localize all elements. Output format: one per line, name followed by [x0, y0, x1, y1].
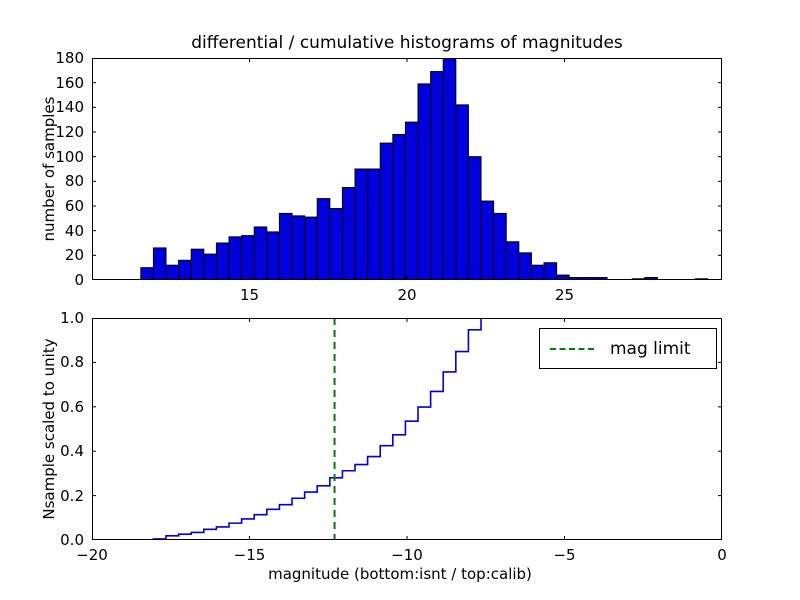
top-x-tick: 20	[397, 286, 416, 304]
figure-canvas: differential / cumulative histograms of …	[0, 0, 800, 600]
histogram-bar	[431, 72, 444, 280]
top-histogram-axes	[92, 58, 722, 280]
bottom-y-tick: 0.8	[20, 353, 84, 371]
histogram-bar	[368, 169, 381, 280]
histogram-bar	[216, 243, 229, 280]
histogram-bar	[330, 208, 343, 280]
bottom-x-tick: 0	[717, 546, 727, 564]
x-axis-label: magnitude (bottom:isnt / top:calib)	[0, 565, 800, 583]
bottom-x-tick: −5	[553, 546, 575, 564]
histogram-bar	[204, 254, 217, 280]
histogram-bar	[468, 157, 481, 280]
histogram-bar	[191, 249, 204, 280]
top-y-tick: 160	[20, 74, 84, 92]
histogram-bar	[544, 263, 557, 280]
bottom-y-tick: 1.0	[20, 309, 84, 327]
top-y-tick: 100	[20, 148, 84, 166]
top-x-tick: 25	[555, 286, 574, 304]
bottom-y-tick: 0.6	[20, 398, 84, 416]
histogram-bar	[292, 216, 305, 280]
top-y-tick: 120	[20, 123, 84, 141]
histogram-bar	[481, 201, 494, 280]
histogram-bar	[342, 188, 355, 281]
histogram-bar	[242, 236, 255, 280]
legend-entry-label: mag limit	[610, 339, 691, 359]
histogram-bar	[279, 213, 292, 280]
histogram-bar	[531, 265, 544, 280]
mag-limit-legend-swatch	[550, 348, 594, 350]
histogram-bar	[519, 253, 532, 280]
histogram-bar	[494, 213, 507, 280]
bottom-y-tick: 0.2	[20, 487, 84, 505]
histogram-bar	[317, 199, 330, 280]
histogram-bar	[267, 232, 280, 280]
histogram-bar	[229, 237, 242, 280]
top-y-tick: 180	[20, 49, 84, 67]
histogram-bar	[506, 242, 519, 280]
histogram-bar	[166, 265, 179, 280]
legend[interactable]: mag limit	[539, 328, 717, 369]
chart-title: differential / cumulative histograms of …	[92, 33, 722, 53]
bottom-x-tick: −15	[234, 546, 266, 564]
histogram-bar	[153, 248, 166, 280]
histogram-bar	[418, 84, 431, 280]
histogram-bar	[305, 217, 318, 280]
bottom-y-tick: 0.4	[20, 442, 84, 460]
histogram-bar	[141, 268, 154, 280]
top-y-tick: 20	[20, 246, 84, 264]
histogram-bar	[393, 134, 406, 280]
histogram-bar	[179, 260, 192, 280]
histogram-bar	[380, 143, 393, 280]
histogram-bar	[254, 227, 267, 280]
top-x-tick: 15	[240, 286, 259, 304]
top-y-tick: 40	[20, 222, 84, 240]
bottom-y-tick: 0.0	[20, 531, 84, 549]
bottom-y-axis-label: Nsample scaled to unity	[40, 318, 58, 540]
top-y-tick: 0	[20, 271, 84, 289]
top-y-tick: 60	[20, 197, 84, 215]
top-y-tick: 140	[20, 98, 84, 116]
top-histogram-plot	[92, 58, 722, 280]
bottom-x-tick: −20	[76, 546, 108, 564]
histogram-bar	[443, 58, 456, 280]
bottom-x-tick: −10	[391, 546, 423, 564]
histogram-bar	[405, 122, 418, 280]
histogram-bar	[355, 169, 368, 280]
top-y-tick: 80	[20, 172, 84, 190]
histogram-bar	[456, 105, 469, 280]
